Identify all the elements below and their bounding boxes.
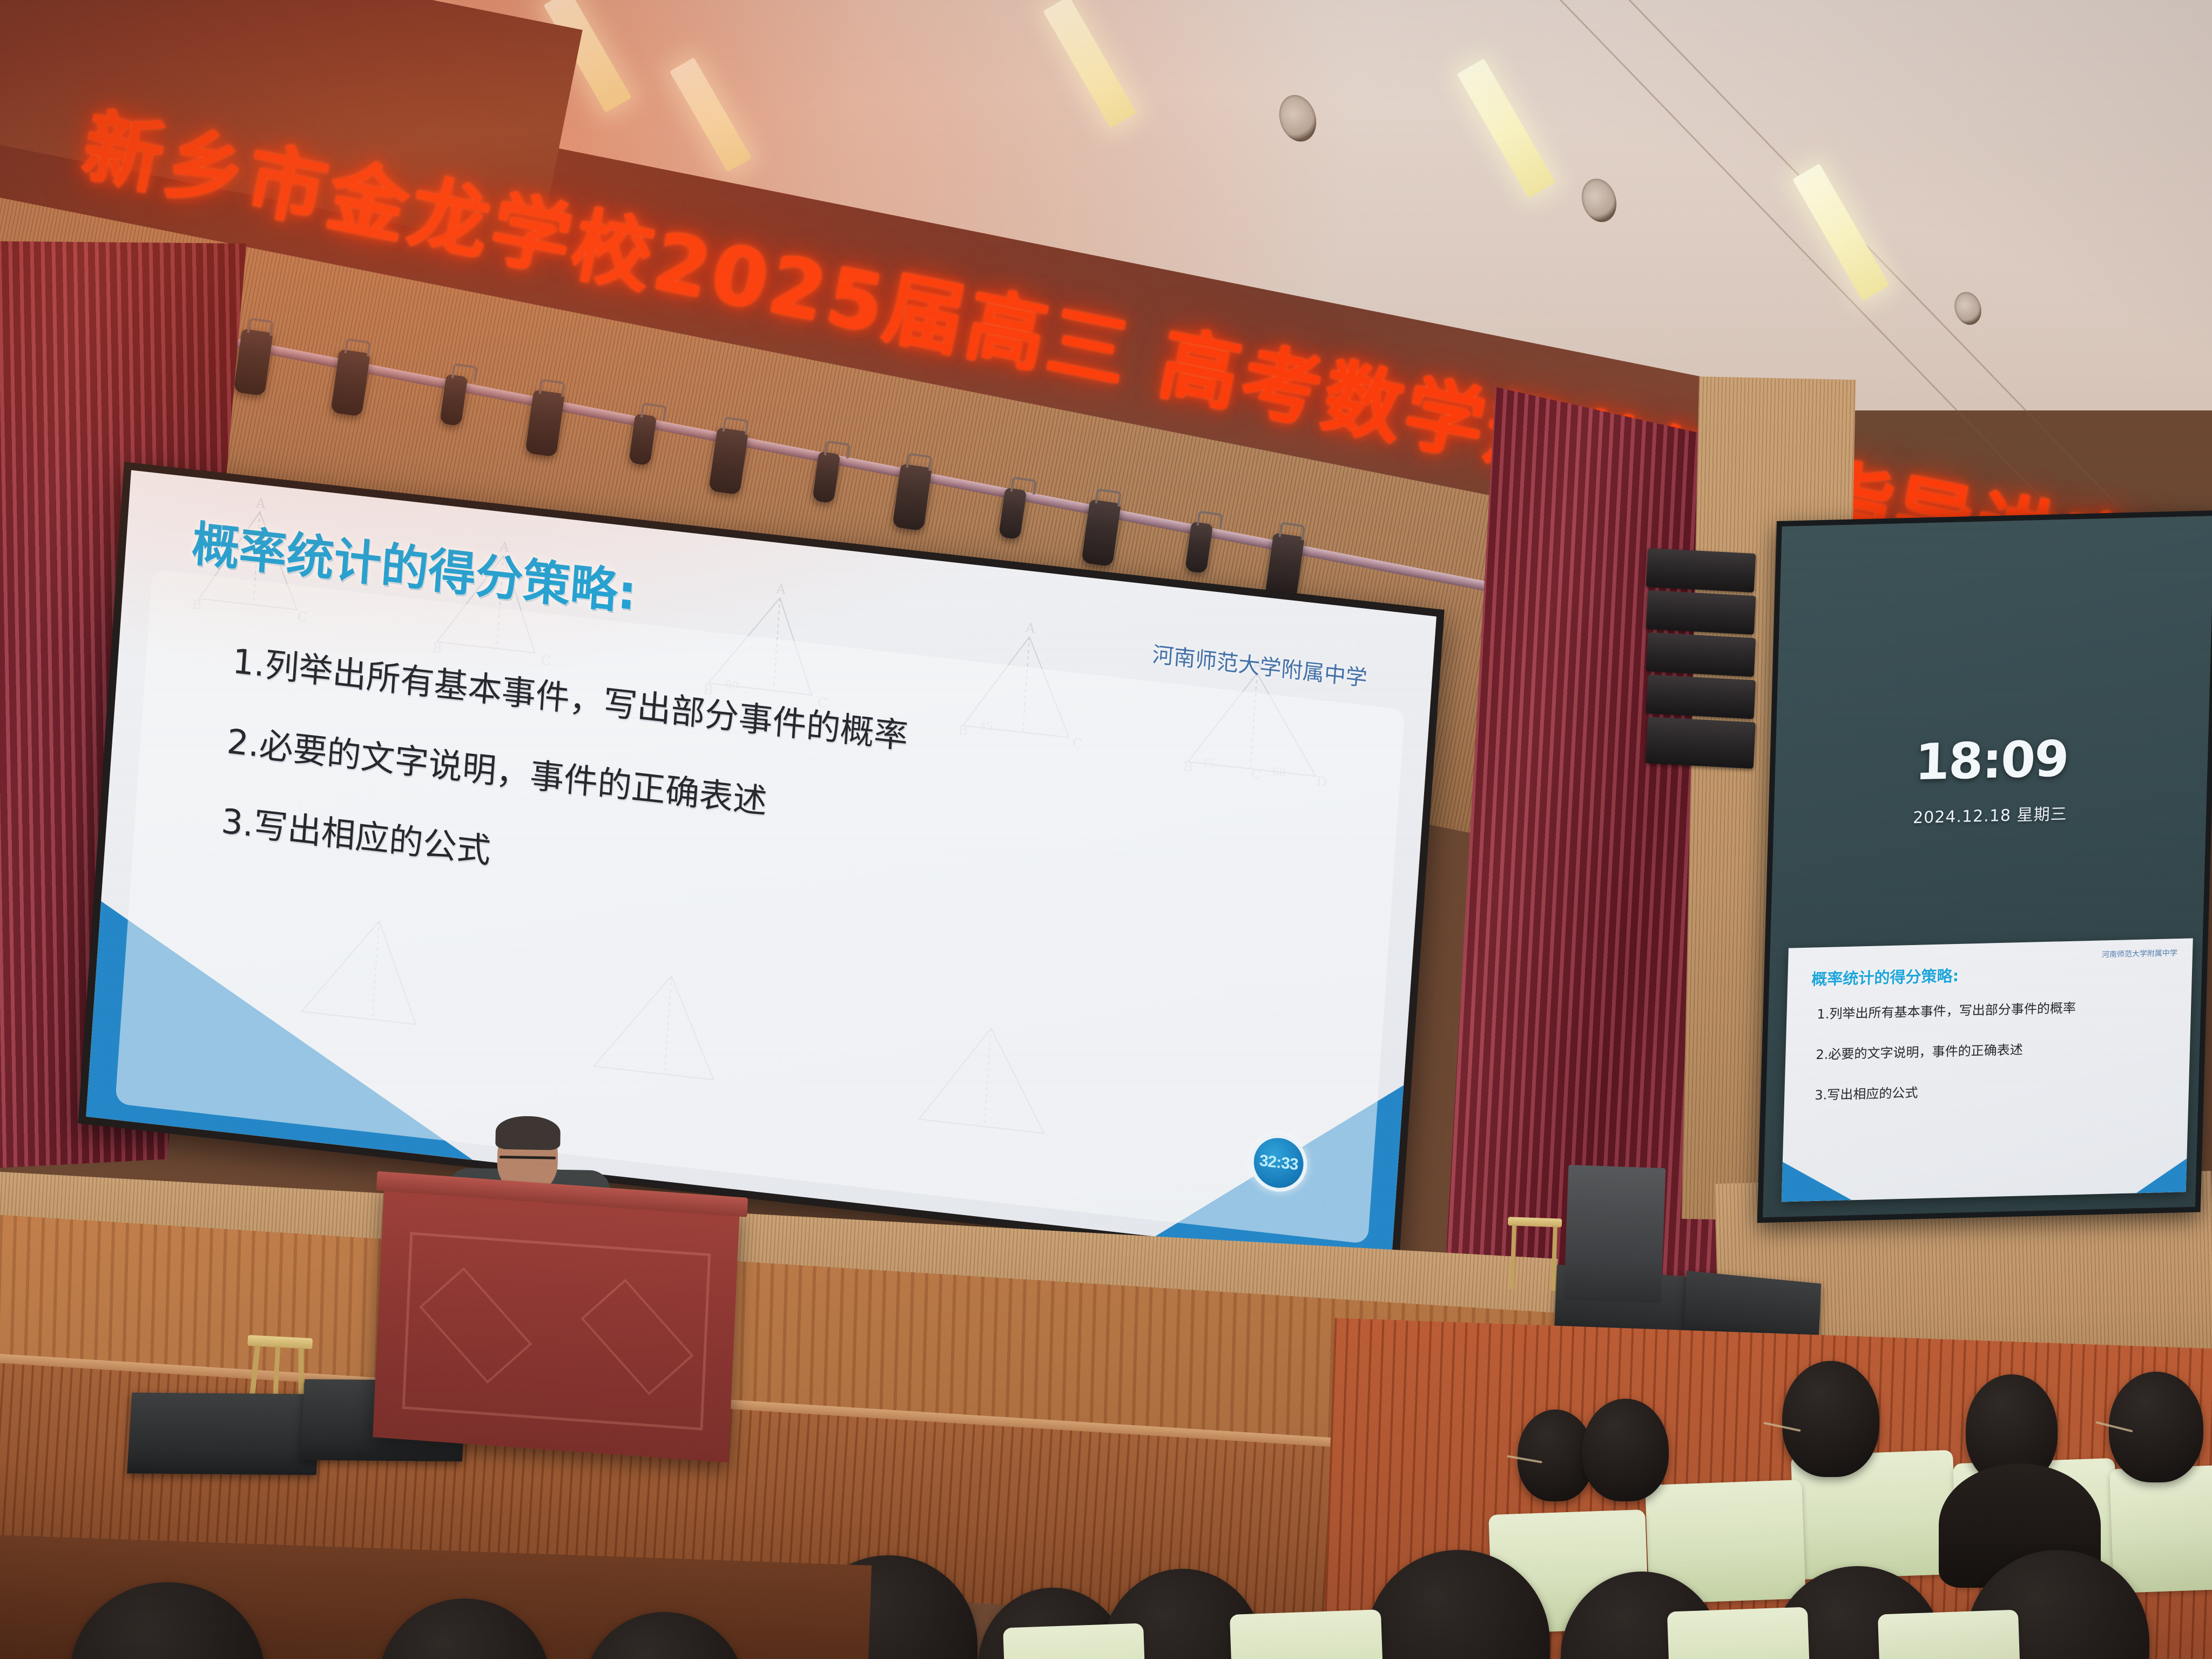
audience-head <box>2109 1372 2203 1482</box>
svg-text:A: A <box>1024 619 1036 636</box>
monitor-clock: 18:09 2024.12.18 星期三 <box>1913 730 2070 828</box>
monitor-bullet-item: 3.写出相应的公式 <box>1815 1078 2074 1103</box>
slide-bullet-item: 3.写出相应的公式 <box>220 802 1347 967</box>
audience-seat <box>1003 1623 1147 1659</box>
audience-seat <box>1667 1607 1811 1659</box>
stage-floor-monitor <box>127 1393 321 1475</box>
svg-text:A: A <box>775 581 786 597</box>
stage-equipment-rack <box>1564 1165 1666 1303</box>
monitor-bullet-item: 2.必要的文字说明，事件的正确表述 <box>1816 1037 2075 1063</box>
audience-head <box>1518 1410 1593 1501</box>
monitor-bullet-item: 1.列举出所有基本事件，写出部分事件的概率 <box>1817 997 2076 1022</box>
audience-seat <box>1230 1609 1384 1659</box>
monitor-decor-triangle-left <box>1782 1160 1853 1202</box>
auditorium-photo: 新乡市金龙学校2025届高三 高考数学规范答题指导讲座 <box>0 0 2212 1659</box>
clock-date: 2024.12.18 星期三 <box>1913 800 2068 828</box>
side-display-screen: 18:09 2024.12.18 星期三 概率统计的得分策略: 河南师范大学附属… <box>1763 516 2212 1217</box>
stage-stool-right[interactable] <box>1506 1217 1562 1294</box>
svg-text:A: A <box>255 495 266 511</box>
side-display-monitor[interactable]: 18:09 2024.12.18 星期三 概率统计的得分策略: 河南师范大学附属… <box>1757 510 2212 1223</box>
audience-head <box>1582 1399 1669 1501</box>
monitor-slide-bullets: 1.列举出所有基本事件，写出部分事件的概率 2.必要的文字说明，事件的正确表述 … <box>1814 997 2076 1125</box>
monitor-mirrored-slide: 概率统计的得分策略: 河南师范大学附属中学 1.列举出所有基本事件，写出部分事件… <box>1782 938 2193 1202</box>
wooden-podium <box>373 1184 740 1463</box>
audience-head <box>1782 1361 1879 1477</box>
school-watermark: 河南师范大学附属中学 <box>1151 637 1368 692</box>
slide-bullet-list: 1.列举出所有基本事件，写出部分事件的概率 2.必要的文字说明，事件的正确表述 … <box>217 642 1358 1008</box>
monitor-slide-title: 概率统计的得分策略: <box>1811 963 1959 990</box>
monitor-decor-triangle-right <box>2136 1158 2187 1193</box>
audience-seat <box>2109 1464 2212 1593</box>
monitor-slide-watermark: 河南师范大学附属中学 <box>2102 947 2178 960</box>
slide-bullet-item: 2.必要的文字说明，事件的正确表述 <box>226 723 1352 887</box>
audience-seat <box>1878 1610 2021 1659</box>
line-array-speaker <box>1636 548 1762 791</box>
presentation-slide: ABC ABC ABC ABC ABCD 60454560 概率统计的得分策略:… <box>86 470 1437 1263</box>
clock-time: 18:09 <box>1913 730 2069 791</box>
